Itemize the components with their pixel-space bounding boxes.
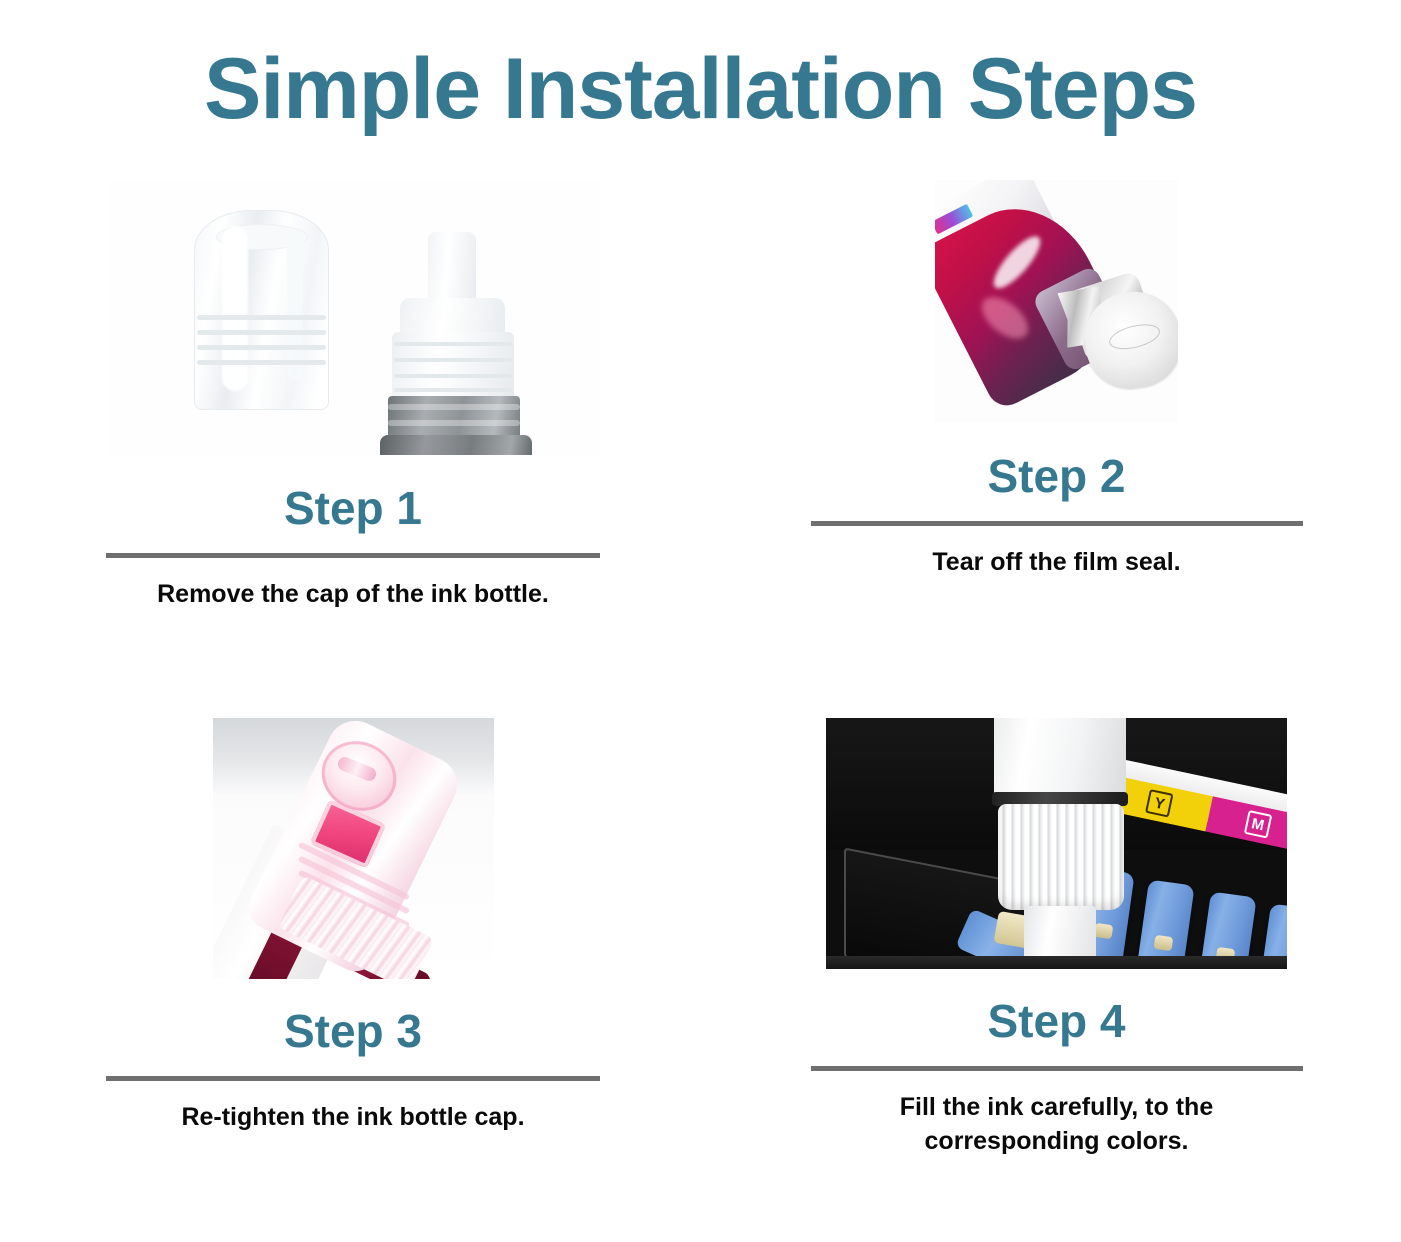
installation-steps-page: Simple Installation Steps [0, 0, 1401, 1242]
step-1-image-background [108, 180, 601, 455]
neck-thread [388, 420, 520, 426]
page-title: Simple Installation Steps [0, 44, 1401, 134]
cap-ring [197, 330, 326, 335]
step-card-4: BK Y M [700, 718, 1401, 1218]
cap-ring [197, 360, 326, 365]
cap-pin [1094, 923, 1114, 939]
step-2-label: Step 2 [987, 453, 1125, 499]
step-1-description: Remove the cap of the ink bottle. [157, 578, 549, 612]
step-4-label: Step 4 [987, 998, 1125, 1044]
step-2-image [935, 180, 1178, 423]
neck-thread [388, 404, 520, 410]
bottle-highlight [987, 230, 1047, 294]
step-2-divider [811, 521, 1303, 526]
nozzle-ridge [394, 388, 512, 392]
cap-ring [197, 345, 326, 350]
step-3-description: Re-tighten the ink bottle cap. [181, 1101, 524, 1135]
step-3-image [213, 718, 494, 979]
nozzle-ridge [394, 342, 512, 346]
step-4-description: Fill the ink carefully, to the correspon… [900, 1091, 1213, 1159]
seal-ring [1107, 320, 1163, 354]
ink-label-yellow-code: Y [1145, 789, 1173, 817]
step-1-image [108, 180, 601, 455]
nozzle-ridge [394, 358, 512, 362]
nozzle-ridge [394, 374, 512, 378]
step-card-3: Step 3 Re-tighten the ink bottle cap. [0, 718, 700, 1218]
step-2-description: Tear off the film seal. [932, 546, 1180, 580]
step-1-divider [106, 553, 600, 558]
cap-ring [197, 315, 326, 320]
nozzle-stem [428, 232, 476, 304]
ink-label-magenta-code: M [1244, 810, 1272, 838]
step-4-image: BK Y M [826, 718, 1287, 969]
step-1-label: Step 1 [284, 485, 422, 531]
step-3-divider [106, 1076, 600, 1081]
steps-grid: Step 1 Remove the cap of the ink bottle. [0, 180, 1401, 1218]
bottle-shoulder [380, 435, 532, 455]
refill-bottle-grip [998, 804, 1124, 910]
step-3-label: Step 3 [284, 1008, 422, 1054]
printer-base-rail [826, 956, 1287, 969]
bottle-highlight [974, 289, 1035, 346]
step-card-1: Step 1 Remove the cap of the ink bottle. [0, 180, 700, 718]
bottle-cap-shape [194, 210, 329, 410]
step-card-2: Step 2 Tear off the film seal. [700, 180, 1401, 718]
step-4-divider [811, 1066, 1303, 1071]
cap-highlight-right [287, 230, 303, 380]
cap-highlight-left [222, 226, 248, 391]
cap-pin [1154, 935, 1174, 951]
